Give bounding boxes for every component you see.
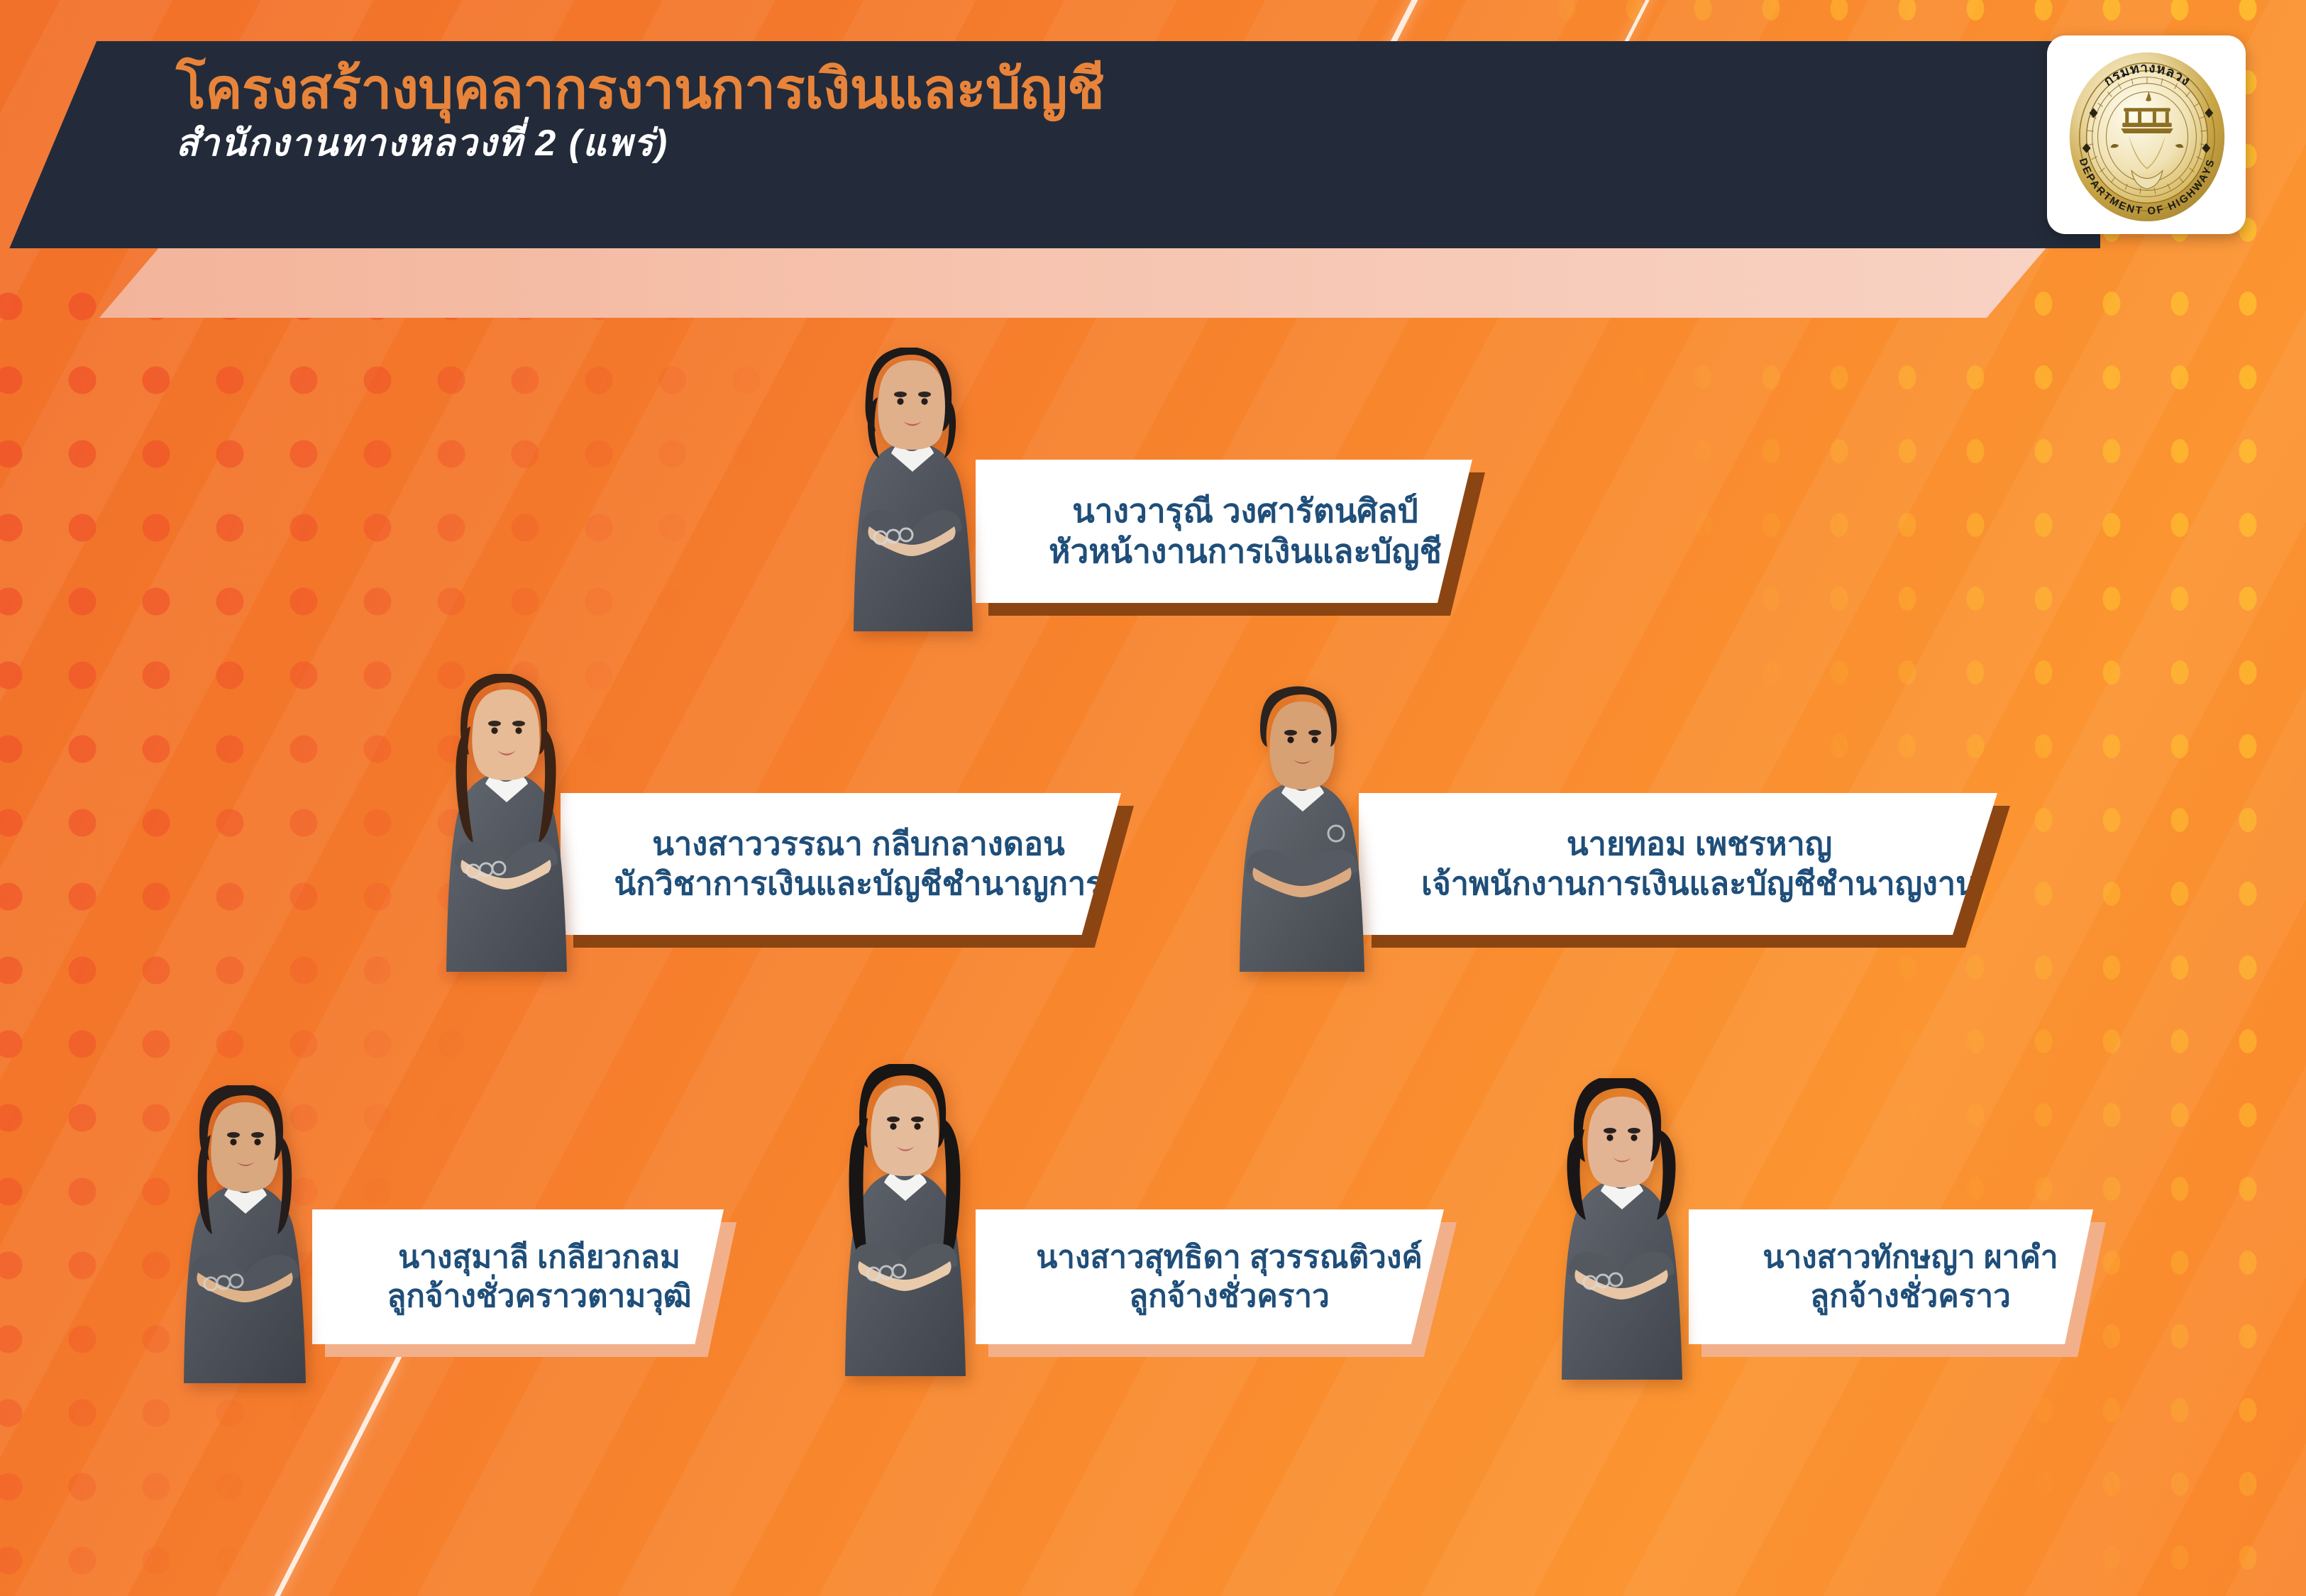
- person-photo-level2-1: [1231, 685, 1373, 972]
- person-role: ลูกจ้างชั่วคราว: [1810, 1277, 2011, 1316]
- person-card[interactable]: นางสาววรรณา กลีบกลางดอน นักวิชาการเงินแล…: [561, 793, 1121, 935]
- person-card[interactable]: นายทอม เพชรหาญ เจ้าพนักงานการเงินและบัญช…: [1359, 793, 1997, 935]
- person-role: นักวิชาการเงินและบัญชีชำนาญการ: [614, 864, 1103, 904]
- person-name: นางสาวสุทธิดา สุวรรณติวงค์: [1036, 1238, 1423, 1277]
- department-of-highways-seal-icon: กรมทางหลวง DEPARTMENT OF HIGHWAYS: [2056, 40, 2239, 231]
- person-card[interactable]: นางสาวทักษญา ผาคำ ลูกจ้างชั่วคราว: [1689, 1209, 2093, 1344]
- person-photo-level3-1: [834, 1064, 976, 1376]
- page-subtitle: สำนักงานทางหลวงที่ 2 (แพร่): [176, 123, 1808, 164]
- org-node-level3-0[interactable]: นางสุมาลี เกลียวกลม ลูกจ้างชั่วคราวตามวุ…: [312, 1209, 724, 1344]
- org-node-level3-1[interactable]: นางสาวสุทธิดา สุวรรณติวงค์ ลูกจ้างชั่วคร…: [976, 1209, 1444, 1344]
- person-card[interactable]: นางสุมาลี เกลียวกลม ลูกจ้างชั่วคราวตามวุ…: [312, 1209, 724, 1344]
- person-name: นางสาววรรณา กลีบกลางดอน: [652, 824, 1065, 864]
- header-text-block: โครงสร้างบุคลากรงานการเงินและบัญชี สำนัก…: [176, 61, 1808, 164]
- person-name: นายทอม เพชรหาญ: [1567, 824, 1832, 864]
- person-role: ลูกจ้างชั่วคราว: [1129, 1277, 1330, 1316]
- person-role: หัวหน้างานการเงินและบัญชี: [1049, 531, 1442, 572]
- person-photo-level2-0: [435, 674, 577, 972]
- org-node-level2-1[interactable]: นายทอม เพชรหาญ เจ้าพนักงานการเงินและบัญช…: [1359, 793, 1997, 935]
- org-node-level3-2[interactable]: นางสาวทักษญา ผาคำ ลูกจ้างชั่วคราว: [1689, 1209, 2093, 1344]
- org-node-level2-0[interactable]: นางสาววรรณา กลีบกลางดอน นักวิชาการเงินแล…: [561, 793, 1121, 935]
- person-photo-level3-2: [1550, 1078, 1692, 1380]
- person-photo-level3-0: [174, 1085, 316, 1383]
- person-role: เจ้าพนักงานการเงินและบัญชีชำนาญงาน: [1421, 864, 1977, 904]
- poster-canvas: โครงสร้างบุคลากรงานการเงินและบัญชี สำนัก…: [0, 0, 2306, 1596]
- person-role: ลูกจ้างชั่วคราวตามวุฒิ: [387, 1277, 691, 1316]
- page-title: โครงสร้างบุคลากรงานการเงินและบัญชี: [176, 61, 1808, 118]
- person-card[interactable]: นางวารุณี วงศารัตนศิลป์ หัวหน้างานการเงิ…: [976, 460, 1472, 603]
- person-card[interactable]: นางสาวสุทธิดา สุวรรณติวงค์ ลูกจ้างชั่วคร…: [976, 1209, 1444, 1344]
- org-node-level1-0[interactable]: นางวารุณี วงศารัตนศิลป์ หัวหน้างานการเงิ…: [976, 460, 1472, 603]
- header-peach-strip: [99, 247, 2047, 318]
- person-name: นางสาวทักษญา ผาคำ: [1762, 1238, 2058, 1277]
- person-name: นางสุมาลี เกลียวกลม: [398, 1238, 680, 1277]
- person-photo-level1-0: [841, 348, 983, 631]
- person-name: นางวารุณี วงศารัตนศิลป์: [1072, 491, 1418, 532]
